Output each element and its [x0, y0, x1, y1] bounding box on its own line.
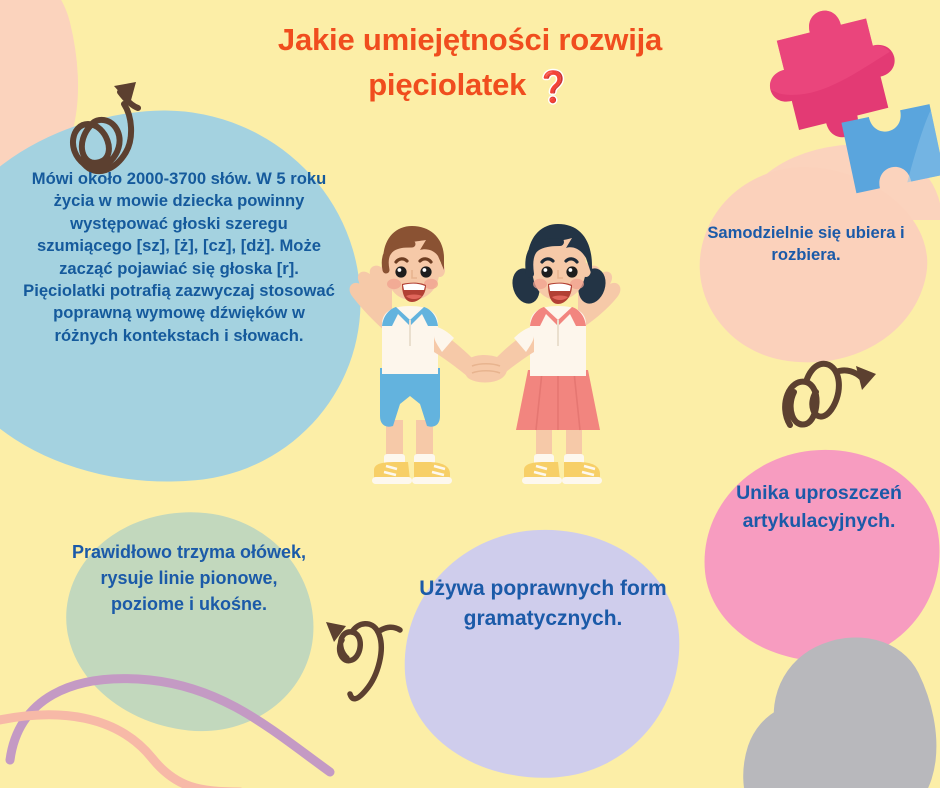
puzzle-piece-blue-icon [840, 84, 940, 194]
girl-right-eye [566, 266, 577, 277]
page-title-line1: Jakie umiejętności rozwija [278, 22, 662, 57]
girl-left-eye [541, 266, 552, 277]
green-blob-pencil-grip [55, 500, 324, 743]
page-title: Jakie umiejętności rozwija pięciolatek ❓ [150, 18, 790, 108]
purple-blob-grammar [396, 521, 689, 788]
infographic-canvas: Jakie umiejętności rozwija pięciolatek ❓… [0, 0, 940, 788]
squiggle-arrow-bottom-center [340, 624, 400, 699]
children-illustration [330, 208, 650, 508]
squiggle-arrowhead-top-left [114, 82, 136, 104]
question-mark-icon: ❓ [535, 66, 572, 110]
bubble-text-self-dressing: Samodzielnie się ubiera i rozbiera. [692, 222, 920, 267]
girl-figure [464, 224, 620, 484]
page-title-line2: pięciolatek [368, 67, 526, 102]
handshake [464, 355, 507, 383]
bubble-text-pencil-grip: Prawidłowo trzyma ołówek, rysuje linie p… [68, 540, 310, 618]
bubble-text-articulation: Unika uproszczeń artykulacyjnych. [700, 480, 938, 535]
pink-blob-articulation [694, 438, 940, 674]
squiggle-arrowhead-bottom-center [326, 622, 346, 642]
boy-shorts [380, 368, 440, 427]
bubble-text-speech-development: Mówi około 2000-3700 słów. W 5 roku życi… [22, 168, 336, 347]
squiggle-arrow-right [785, 364, 862, 425]
boy-figure [350, 226, 482, 484]
squiggle-arrowhead-right [856, 366, 876, 390]
bubble-text-grammar: Używa poprawnych form gramatycznych. [414, 574, 672, 635]
boy-left-eye [395, 266, 406, 277]
boy-right-eye [420, 266, 431, 277]
